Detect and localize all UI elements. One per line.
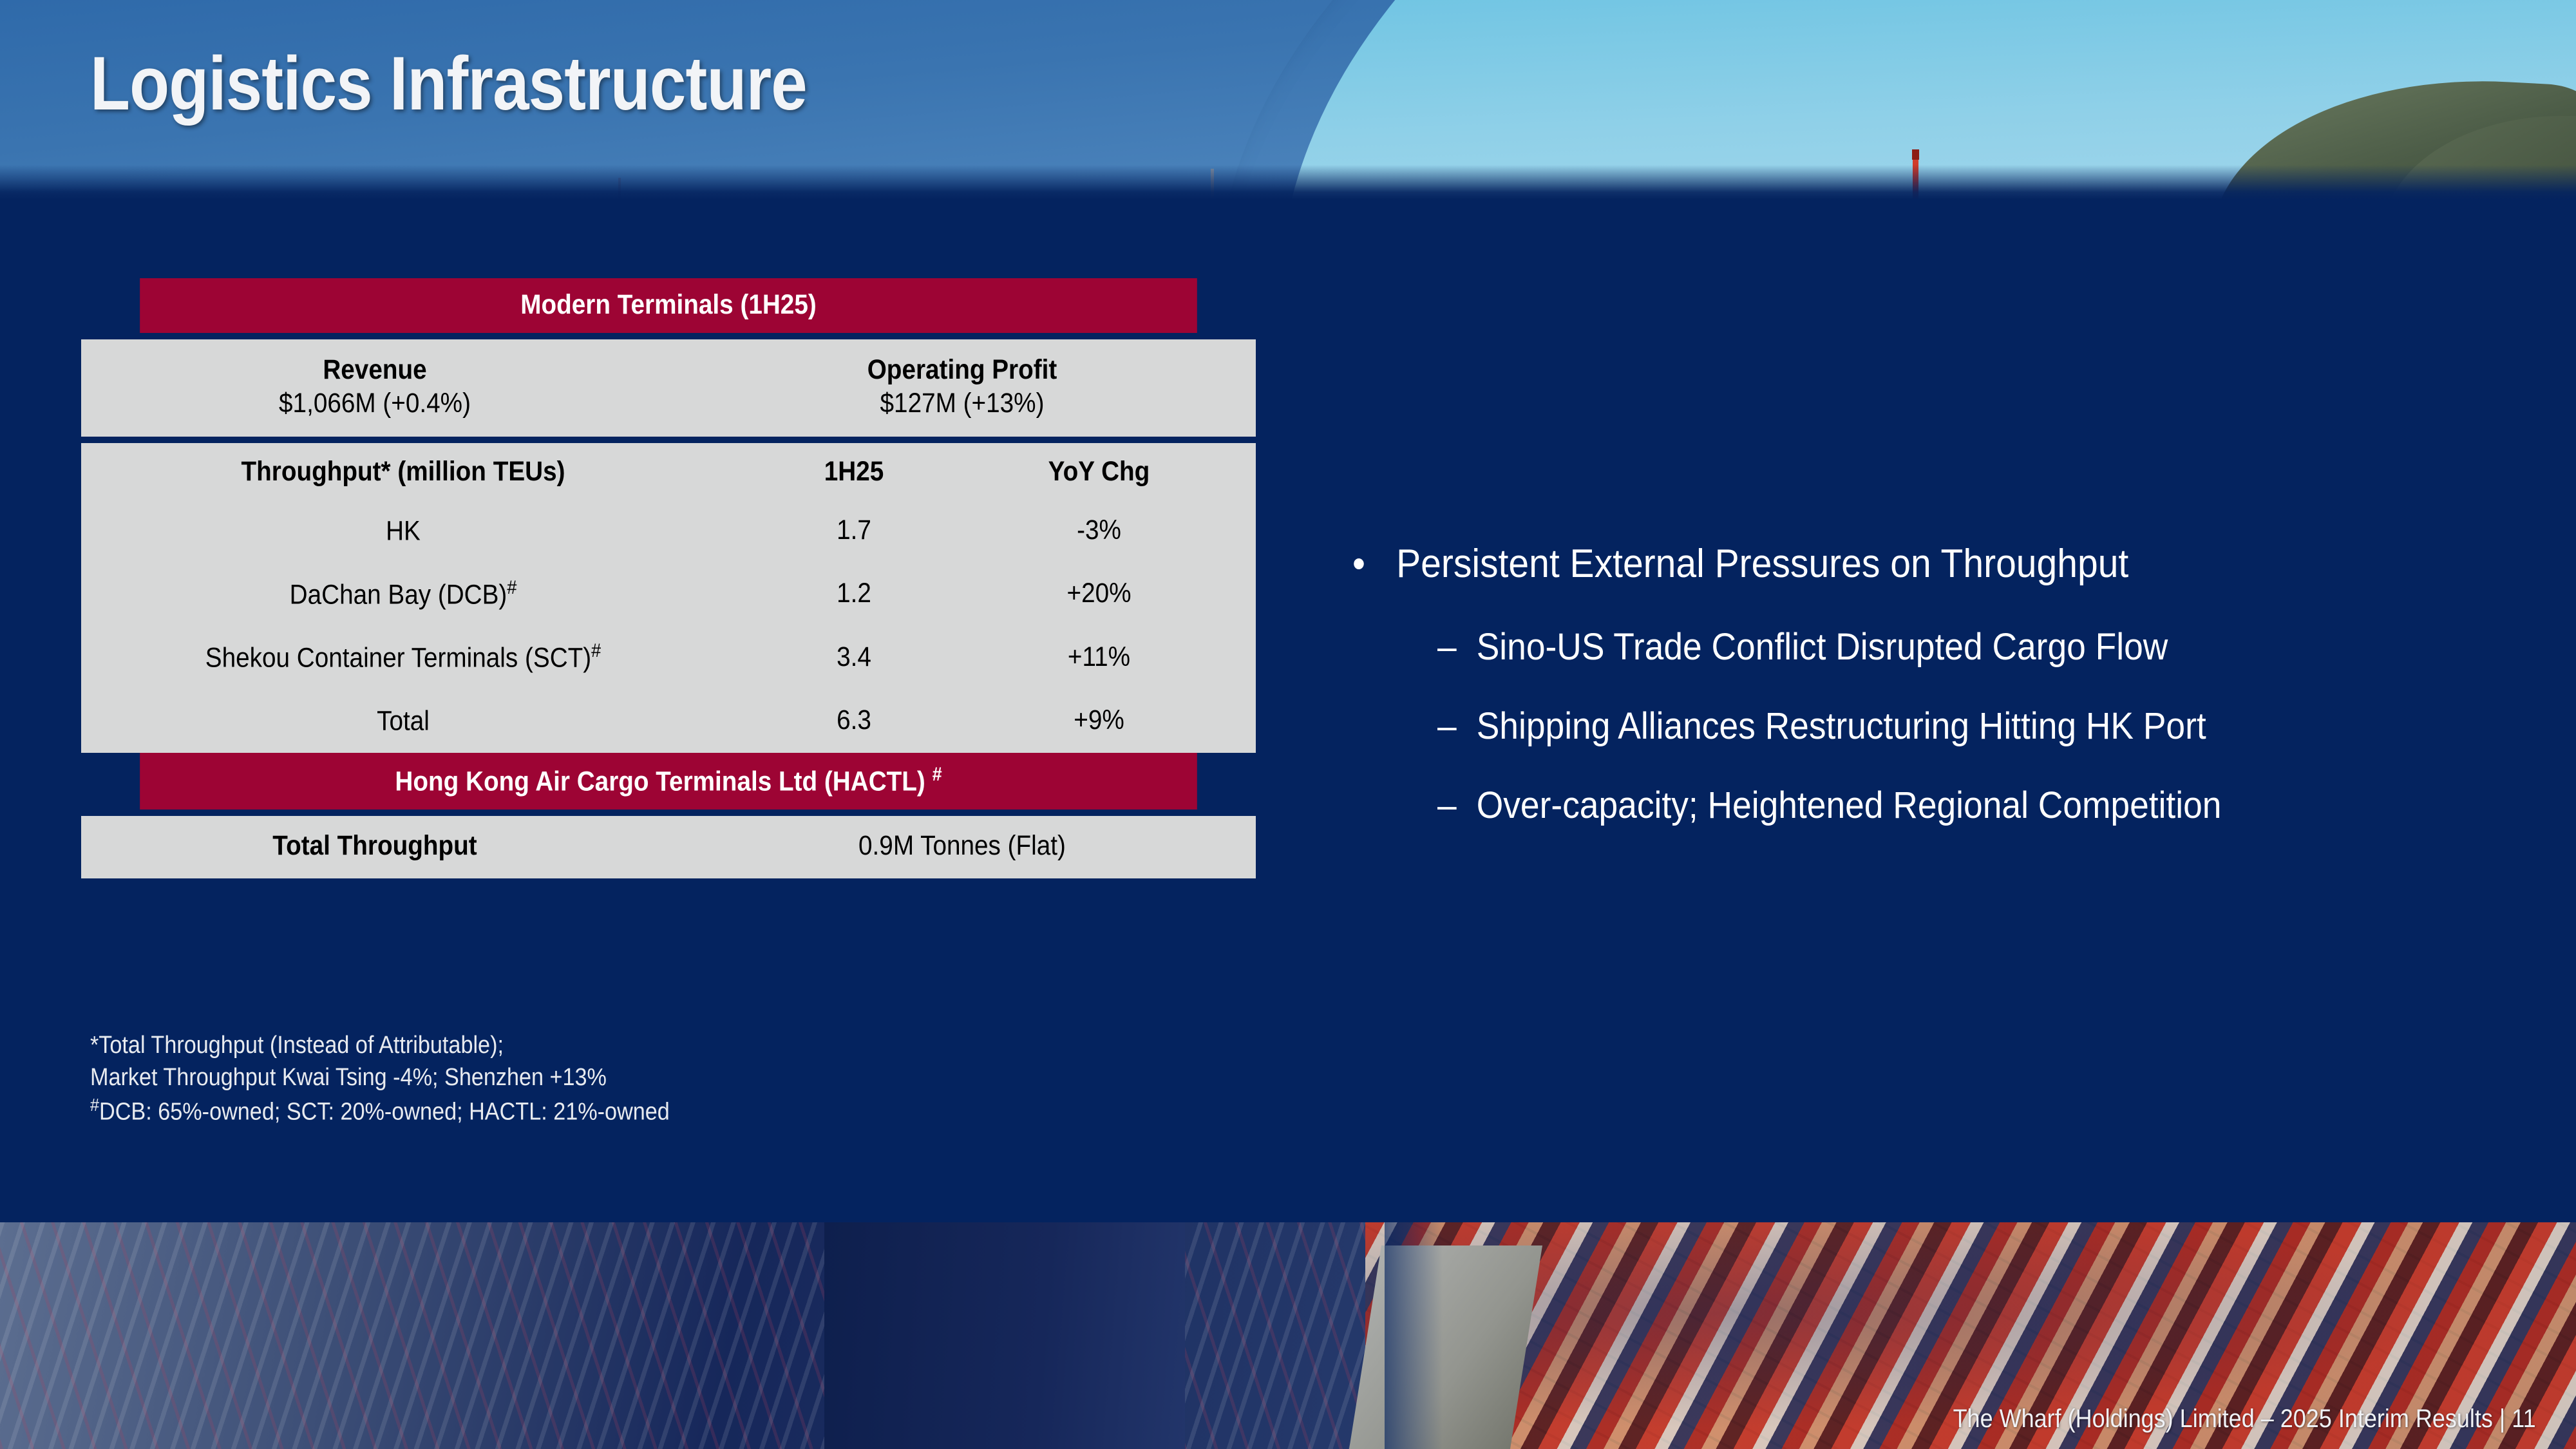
- page-title: Logistics Infrastructure: [90, 40, 807, 128]
- row-label: HK: [113, 513, 693, 547]
- bullet-list: • Persistent External Pressures on Throu…: [1352, 541, 2512, 863]
- footnote-line-1: *Total Throughput (Instead of Attributab…: [90, 1029, 670, 1061]
- bullet-sub-text: Shipping Alliances Restructuring Hitting…: [1477, 705, 2206, 748]
- section-header-superscript: #: [933, 764, 942, 785]
- footnotes: *Total Throughput (Instead of Attributab…: [90, 1029, 670, 1128]
- bullet-dash-icon: –: [1437, 705, 1477, 748]
- bullet-sub: – Sino-US Trade Conflict Disrupted Cargo…: [1437, 625, 2426, 668]
- kpi-revenue-value: $1,066M (+0.4%): [111, 386, 639, 420]
- photo-pavement: [1349, 1245, 1542, 1449]
- hactl-total-throughput-label: Total Throughput: [111, 830, 639, 862]
- photo-seam-overlay: [1385, 1222, 1443, 1449]
- hactl-total-throughput-value: 0.9M Tonnes (Flat): [698, 830, 1227, 862]
- bullet-sub: – Shipping Alliances Restructuring Hitti…: [1437, 705, 2426, 748]
- row-value-yoy: -3%: [996, 515, 1242, 546]
- row-label-superscript: #: [507, 577, 516, 598]
- kpi-revenue-label: Revenue: [111, 354, 639, 386]
- table-section-header-modern-terminals: Modern Terminals (1H25): [140, 278, 1197, 333]
- bullet-main-text: Persistent External Pressures on Through…: [1396, 541, 2128, 587]
- crane-mast-tip: [1912, 149, 1919, 160]
- column-header-throughput: Throughput* (million TEUs): [113, 456, 693, 488]
- kpi-row: Revenue $1,066M (+0.4%) Operating Profit…: [81, 339, 1256, 437]
- bullet-sub-text: Over-capacity; Heightened Regional Compe…: [1477, 784, 2222, 827]
- row-divider: [81, 333, 1256, 339]
- row-value-yoy: +9%: [996, 705, 1242, 736]
- bullet-dash-icon: –: [1437, 784, 1477, 827]
- kpi-operating-profit: Operating Profit $127M (+13%): [698, 354, 1227, 420]
- bullet-sub: – Over-capacity; Heightened Regional Com…: [1437, 784, 2426, 827]
- bullet-main: • Persistent External Pressures on Throu…: [1352, 541, 2419, 587]
- slide: Logistics Infrastructure Modern Terminal…: [0, 0, 2576, 1449]
- kpi-operating-profit-label: Operating Profit: [698, 354, 1227, 386]
- column-header-yoy-chg: YoY Chg: [996, 456, 1242, 488]
- row-value-1h25: 6.3: [738, 705, 970, 736]
- table-row: Shekou Container Terminals (SCT)# 3.4 +1…: [81, 626, 1256, 689]
- row-value-1h25: 1.2: [738, 578, 970, 609]
- row-value-yoy: +11%: [996, 641, 1242, 673]
- column-header-1h25: 1H25: [738, 456, 970, 488]
- row-value-yoy: +20%: [996, 578, 1242, 609]
- row-divider: [81, 810, 1256, 816]
- table-row: DaChan Bay (DCB)# 1.2 +20%: [81, 563, 1256, 626]
- footer-banner-photo: The Wharf (Holdings) Limited – 2025 Inte…: [0, 1222, 2576, 1449]
- kpi-operating-profit-value: $127M (+13%): [698, 386, 1227, 420]
- footnote-line-2: Market Throughput Kwai Tsing -4%; Shenzh…: [90, 1061, 670, 1094]
- row-label: Shekou Container Terminals (SCT)#: [113, 640, 693, 674]
- row-label-superscript: #: [591, 640, 601, 661]
- footnote-superscript: #: [90, 1095, 99, 1115]
- table-row-total: Total 6.3 +9%: [81, 689, 1256, 752]
- row-divider: [81, 437, 1256, 443]
- bullet-dot-icon: •: [1352, 541, 1396, 587]
- row-label: Total: [113, 703, 693, 737]
- table-section-header-hactl: Hong Kong Air Cargo Terminals Ltd (HACTL…: [140, 753, 1197, 810]
- hactl-total-throughput-row: Total Throughput 0.9M Tonnes (Flat): [81, 816, 1256, 878]
- throughput-table: Throughput* (million TEUs) 1H25 YoY Chg …: [81, 443, 1256, 752]
- banner-fade-overlay: [0, 165, 2576, 200]
- photo-warehouse-roof: [0, 1222, 1404, 1449]
- footnote-line-3: #DCB: 65%-owned; SCT: 20%-owned; HACTL: …: [90, 1094, 670, 1128]
- row-label: DaChan Bay (DCB)#: [113, 577, 693, 611]
- row-value-1h25: 3.4: [738, 641, 970, 673]
- logistics-table: Modern Terminals (1H25) Revenue $1,066M …: [81, 278, 1256, 878]
- bullet-sub-text: Sino-US Trade Conflict Disrupted Cargo F…: [1477, 625, 2168, 668]
- table-row: HK 1.7 -3%: [81, 499, 1256, 562]
- kpi-revenue: Revenue $1,066M (+0.4%): [111, 354, 639, 420]
- bullet-dash-icon: –: [1437, 625, 1477, 668]
- row-value-1h25: 1.7: [738, 515, 970, 546]
- footer-text: The Wharf (Holdings) Limited – 2025 Inte…: [1953, 1405, 2536, 1434]
- table-header-row: Throughput* (million TEUs) 1H25 YoY Chg: [81, 443, 1256, 499]
- photo-roadway: [824, 1222, 1185, 1449]
